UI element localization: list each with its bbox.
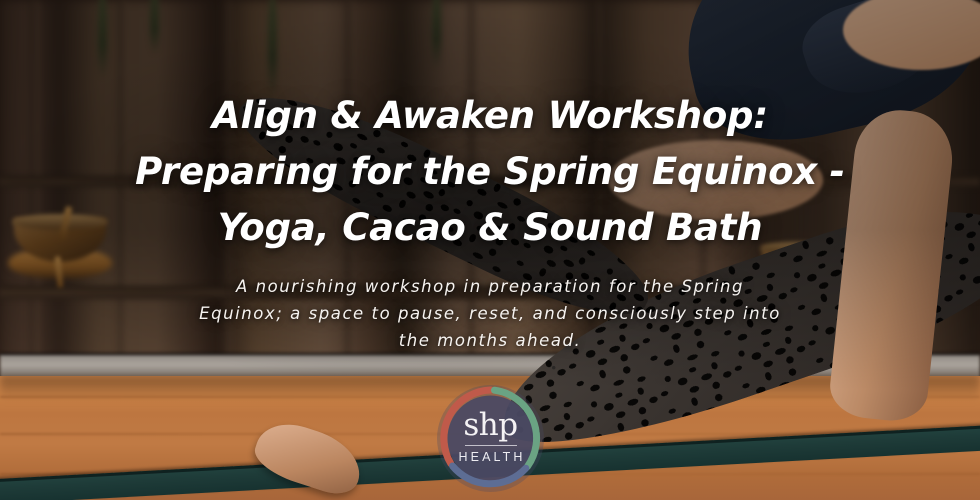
event-subtitle: A nourishing workshop in preparation for…: [195, 273, 785, 355]
shp-health-logo[interactable]: shp HEALTH: [437, 385, 544, 492]
event-promo-banner: Align & Awaken Workshop: Preparing for t…: [0, 0, 980, 500]
subtitle-line-1: A nourishing workshop in preparation for…: [236, 277, 675, 296]
logo-ring-graphic: [437, 385, 544, 492]
title-line-3: Yoga, Cacao & Sound Bath: [218, 206, 763, 249]
title-line-2: Preparing for the Spring Equinox -: [135, 150, 845, 193]
title-line-1: Align & Awaken Workshop:: [212, 94, 768, 137]
event-title: Align & Awaken Workshop: Preparing for t…: [90, 88, 890, 257]
